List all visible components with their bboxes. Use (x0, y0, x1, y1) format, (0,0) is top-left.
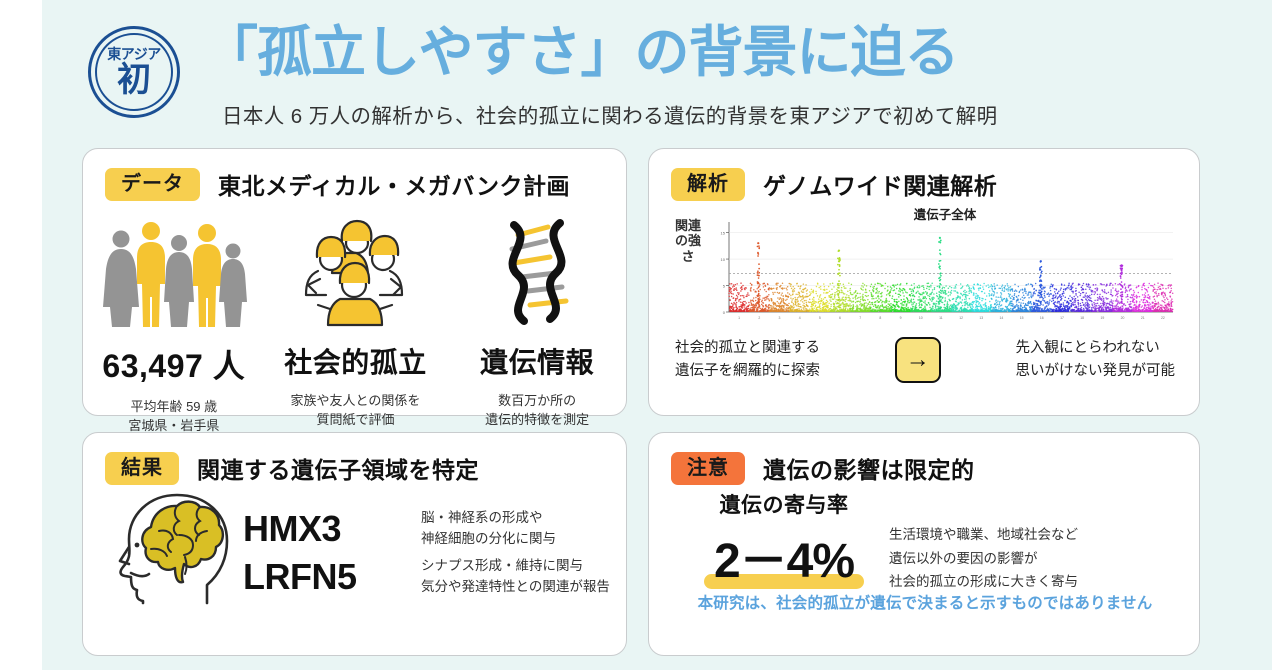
social-isolation-sub-line2: 質問紙で評価 (316, 412, 394, 427)
gene-list: HMX3 脳・神経系の形成や 神経細胞の分化に関与 LRFN5 シナプス形成・維… (243, 502, 610, 604)
head-brain-icon (107, 491, 237, 614)
social-isolation-headline: 社会的孤立 (284, 341, 427, 381)
caution-text-line2: 遺伝以外の要因の影響が (889, 551, 1038, 566)
header: 東アジア 初 「孤立しやすさ」の背景に迫る 日本人 6 万人の解析から、社会的孤… (0, 0, 1280, 145)
svg-text:5: 5 (819, 316, 821, 320)
card-result: 結果 関連する遺伝子領域を特定 (82, 432, 627, 656)
caution-text-line3: 社会的孤立の形成に大きく寄与 (889, 574, 1078, 589)
data-column-genetic-info: 遺伝情報 数百万か所の 遺伝的特徴を測定 (446, 211, 628, 436)
svg-text:22: 22 (1161, 316, 1165, 320)
gene-desc-lrfn5: シナプス形成・維持に関与 気分や発達特性との関連が報告 (421, 556, 610, 598)
gwas-explainer: 社会的孤立と関連する 遺伝子を網羅的に探索 → 先入観にとらわれない 思いがけな… (675, 337, 1175, 383)
card-gwas-title: ゲノムワイド関連解析 (763, 167, 997, 201)
manhattan-plot: 遺伝子全体 関連の強さ 0510151234567891011121314151… (669, 204, 1181, 334)
card-caution-badge: 注意 (671, 452, 745, 485)
social-isolation-sub-line1: 家族や友人との関係を (291, 393, 421, 408)
gene-desc-hmx3-line1: 脳・神経系の形成や (421, 510, 543, 525)
svg-text:2: 2 (758, 316, 760, 320)
gwas-right-line1: 先入観にとらわれない (1016, 340, 1160, 356)
data-column-social-isolation: 社会的孤立 家族や友人との関係を 質問紙で評価 (265, 211, 447, 436)
infographic-root: 東アジア 初 「孤立しやすさ」の背景に迫る 日本人 6 万人の解析から、社会的孤… (0, 0, 1280, 670)
svg-text:9: 9 (900, 316, 902, 320)
participants-count: 63,497 人 (102, 341, 245, 387)
data-column-participants: 63,497 人 平均年齢 59 歳 宮城県・岩手県 (83, 211, 265, 436)
caution-text-line1: 生活環境や職業、地域社会など (889, 527, 1078, 542)
card-gwas-header: 解析 ゲノムワイド関連解析 (671, 167, 997, 201)
genetic-info-headline: 遺伝情報 (480, 341, 594, 381)
card-caution: 注意 遺伝の影響は限定的 遺伝の寄与率 2－4% 生活環境や職業、地域社会など … (648, 432, 1200, 656)
card-result-title: 関連する遺伝子領域を特定 (197, 451, 479, 485)
svg-text:6: 6 (839, 316, 841, 320)
svg-text:1: 1 (738, 316, 740, 320)
card-result-badge: 結果 (105, 452, 179, 485)
arrow-right-icon: → (895, 337, 941, 383)
page-title: 「孤立しやすさ」の背景に迫る (203, 22, 958, 84)
gene-desc-lrfn5-line2: 気分や発達特性との関連が報告 (421, 579, 610, 594)
svg-text:13: 13 (979, 316, 983, 320)
card-gwas: 解析 ゲノムワイド関連解析 遺伝子全体 関連の強さ 05101512345678… (648, 148, 1200, 416)
heritability-value: 2－4% (704, 521, 864, 591)
plot-y-axis-label: 関連の強さ (675, 218, 701, 264)
svg-text:18: 18 (1080, 316, 1084, 320)
caution-text: 生活環境や職業、地域社会など 遺伝以外の要因の影響が 社会的孤立の形成に大きく寄… (889, 523, 1078, 594)
gene-row: LRFN5 シナプス形成・維持に関与 気分や発達特性との関連が報告 (243, 556, 610, 598)
gwas-right-line2: 思いがけない発見が可能 (1016, 363, 1176, 379)
heritability-label: 遺伝の寄与率 (679, 489, 889, 519)
svg-text:15: 15 (1020, 316, 1024, 320)
participants-sub-line2: 宮城県・岩手県 (128, 418, 219, 433)
card-data-badge: データ (105, 168, 200, 201)
svg-text:15: 15 (721, 231, 726, 236)
svg-text:21: 21 (1141, 316, 1145, 320)
caution-body: 遺伝の寄与率 2－4% 生活環境や職業、地域社会など 遺伝以外の要因の影響が 社… (679, 489, 1179, 594)
gene-desc-hmx3-line2: 神経細胞の分化に関与 (421, 531, 556, 546)
stamp-main-text: 初 (117, 63, 151, 97)
svg-text:19: 19 (1100, 316, 1104, 320)
svg-text:16: 16 (1040, 316, 1044, 320)
svg-text:3: 3 (779, 316, 781, 320)
east-asia-first-stamp-icon: 東アジア 初 (88, 26, 180, 118)
gene-row: HMX3 脳・神経系の形成や 神経細胞の分化に関与 (243, 508, 610, 550)
card-data-header: データ 東北メディカル・メガバンク計画 (105, 167, 570, 201)
gwas-left-line1: 社会的孤立と関連する (675, 340, 820, 356)
svg-text:7: 7 (859, 316, 861, 320)
card-data-title: 東北メディカル・メガバンク計画 (218, 167, 570, 201)
people-group-icon (99, 211, 249, 329)
dna-helix-icon (482, 211, 592, 329)
svg-text:20: 20 (1121, 316, 1125, 320)
participants-sub: 平均年齢 59 歳 宮城県・岩手県 (128, 398, 219, 436)
gwas-left-line2: 遺伝子を網羅的に探索 (675, 363, 820, 379)
card-data: データ 東北メディカル・メガバンク計画 (82, 148, 627, 416)
svg-text:17: 17 (1060, 316, 1064, 320)
heritability-value-text: 2－4% (714, 535, 854, 588)
gene-name-lrfn5: LRFN5 (243, 556, 421, 598)
gwas-right-text: 先入観にとらわれない 思いがけない発見が可能 (1016, 337, 1176, 383)
result-body: HMX3 脳・神経系の形成や 神経細胞の分化に関与 LRFN5 シナプス形成・維… (107, 491, 607, 614)
social-isolation-people-icon (290, 211, 420, 329)
svg-text:10: 10 (721, 257, 726, 262)
svg-text:5: 5 (723, 284, 726, 289)
gene-desc-lrfn5-line1: シナプス形成・維持に関与 (421, 558, 583, 573)
card-result-header: 結果 関連する遺伝子領域を特定 (105, 451, 479, 485)
gwas-left-text: 社会的孤立と関連する 遺伝子を網羅的に探索 (675, 337, 820, 383)
genetic-info-sub-line1: 数百万か所の (498, 393, 576, 408)
svg-text:4: 4 (799, 316, 801, 320)
gene-name-hmx3: HMX3 (243, 508, 421, 550)
genetic-info-sub-line2: 遺伝的特徴を測定 (485, 412, 589, 427)
heritability-block: 遺伝の寄与率 2－4% (679, 489, 889, 591)
svg-text:10: 10 (919, 316, 923, 320)
manhattan-plot-canvas: 0510151234567891011121314151617181920212… (711, 218, 1177, 326)
data-columns: 63,497 人 平均年齢 59 歳 宮城県・岩手県 (83, 211, 628, 436)
card-caution-title: 遺伝の影響は限定的 (763, 451, 975, 485)
page-subtitle: 日本人 6 万人の解析から、社会的孤立に関わる遺伝的背景を東アジアで初めて解明 (222, 99, 998, 129)
svg-text:12: 12 (959, 316, 963, 320)
genetic-info-sub: 数百万か所の 遺伝的特徴を測定 (485, 392, 589, 430)
svg-text:0: 0 (723, 310, 726, 315)
social-isolation-sub: 家族や友人との関係を 質問紙で評価 (291, 392, 421, 430)
svg-text:11: 11 (939, 316, 943, 320)
svg-text:8: 8 (879, 316, 881, 320)
card-caution-header: 注意 遺伝の影響は限定的 (671, 451, 975, 485)
gene-desc-hmx3: 脳・神経系の形成や 神経細胞の分化に関与 (421, 508, 556, 550)
study-disclaimer: 本研究は、社会的孤立が遺伝で決まると示すものではありません (649, 591, 1201, 613)
card-gwas-badge: 解析 (671, 168, 745, 201)
svg-text:14: 14 (1000, 316, 1004, 320)
stamp-top-text: 東アジア (107, 47, 160, 61)
participants-sub-line1: 平均年齢 59 歳 (130, 399, 217, 414)
